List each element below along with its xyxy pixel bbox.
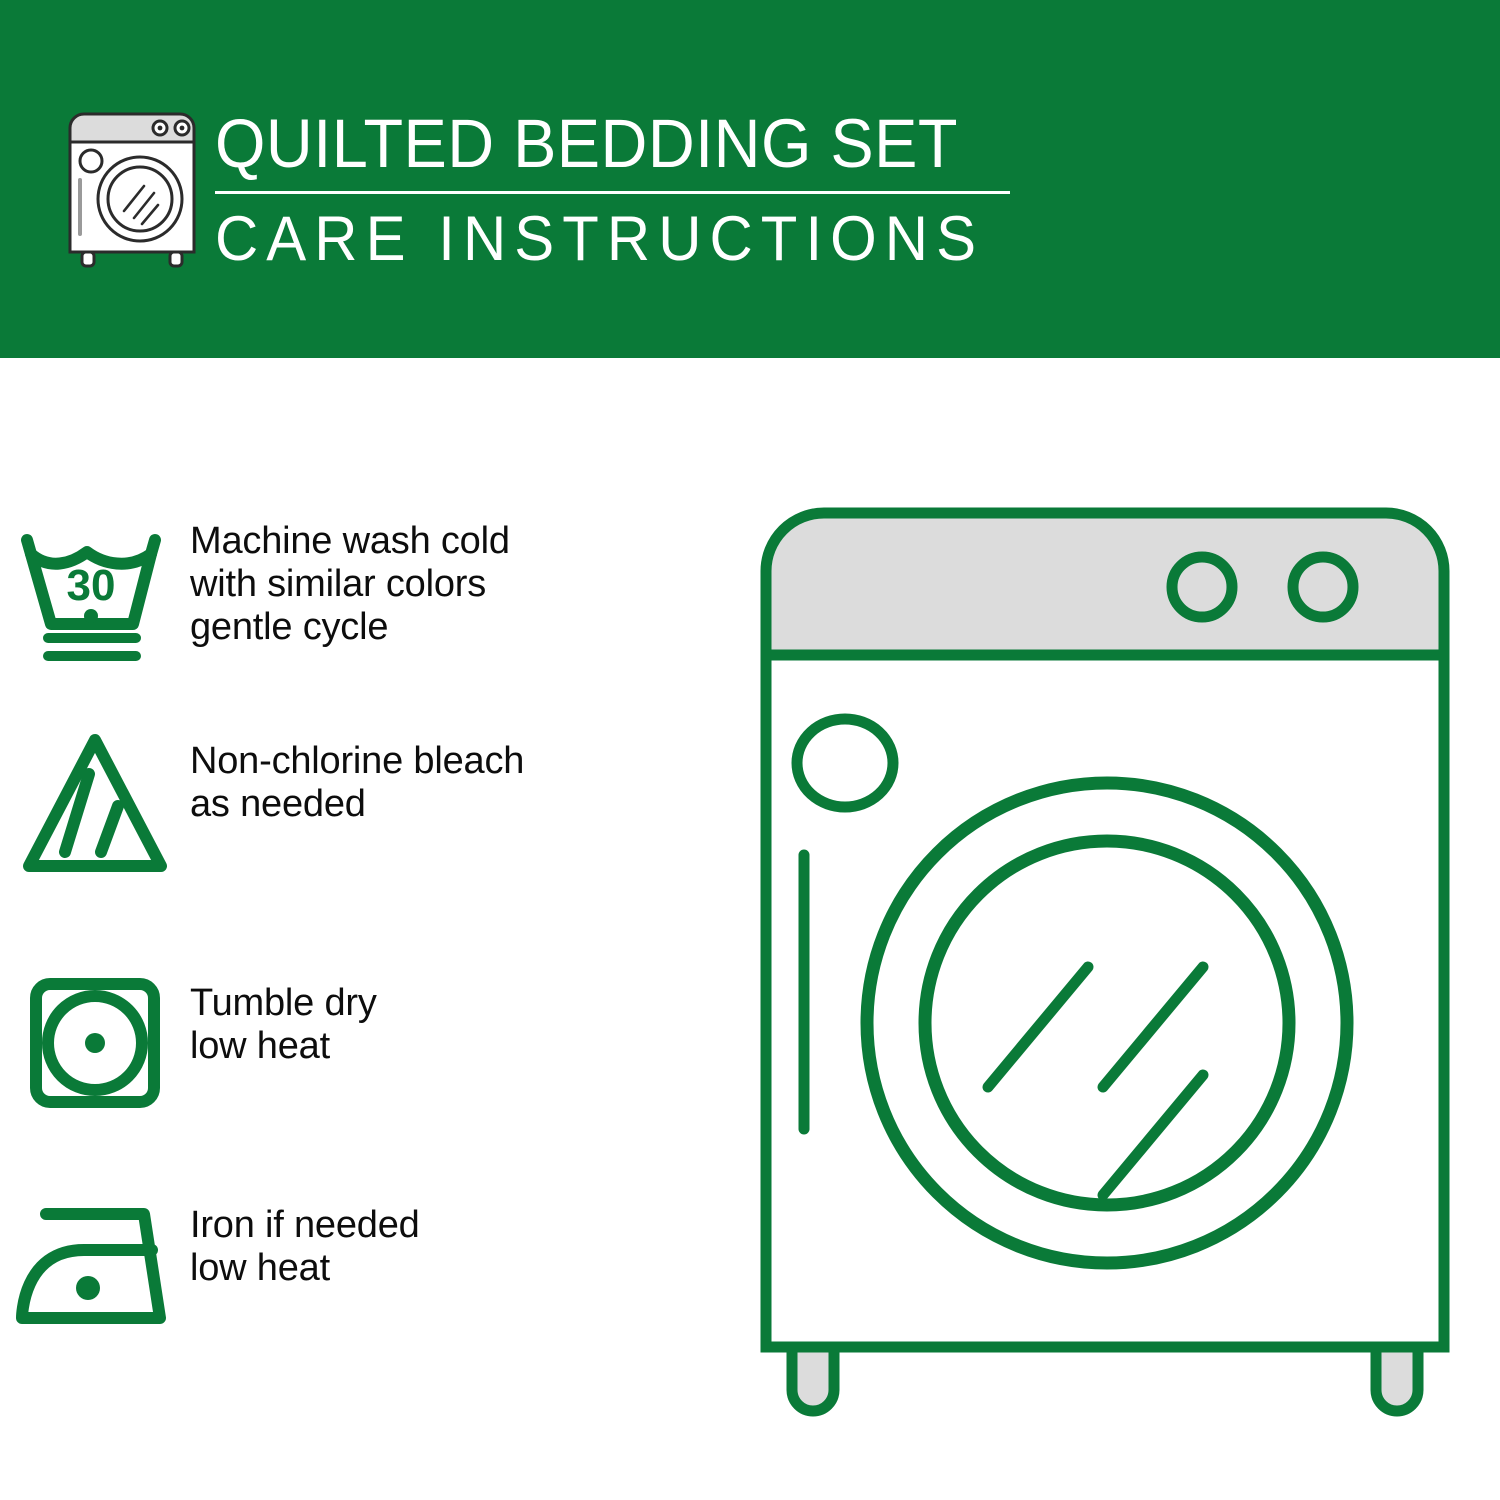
label-line: with similar colors	[190, 563, 510, 606]
header-text-block: QUILTED BEDDING SET CARE INSTRUCTIONS	[215, 104, 1015, 275]
washing-machine-icon	[62, 106, 202, 271]
washing-machine-illustration	[745, 495, 1465, 1420]
page-title: QUILTED BEDDING SET	[215, 104, 967, 184]
door-inner-ring	[925, 841, 1289, 1205]
care-instructions-page: QUILTED BEDDING SET CARE INSTRUCTIONS 30…	[0, 0, 1500, 1500]
header-divider	[215, 191, 1010, 194]
list-item-label: Machine wash cold with similar colors ge…	[190, 516, 510, 649]
knob-right	[1293, 557, 1353, 617]
detergent-dispenser	[797, 719, 893, 807]
label-line: low heat	[190, 1025, 377, 1068]
list-item: Tumble dry low heat	[0, 968, 700, 1122]
knob-left	[1172, 557, 1232, 617]
leg-left	[792, 1347, 834, 1411]
leg-right	[1376, 1347, 1418, 1411]
label-line: gentle cycle	[190, 606, 510, 649]
list-item: Non-chlorine bleach as needed	[0, 726, 700, 880]
label-line: as needed	[190, 783, 524, 826]
wash-temperature-value: 30	[67, 561, 116, 610]
list-item: 30 Machine wash cold with similar colors…	[0, 516, 700, 670]
list-item-label: Non-chlorine bleach as needed	[190, 726, 524, 826]
list-item: Iron if needed low heat	[0, 1190, 700, 1334]
header-banner: QUILTED BEDDING SET CARE INSTRUCTIONS	[0, 0, 1500, 358]
iron-low-heat-icon	[0, 1190, 190, 1334]
list-item-label: Iron if needed low heat	[190, 1190, 420, 1290]
label-line: Tumble dry	[190, 982, 377, 1025]
label-line: Iron if needed	[190, 1204, 420, 1247]
list-item-label: Tumble dry low heat	[190, 968, 377, 1068]
wash-tub-30-icon: 30	[0, 516, 190, 670]
tumble-dry-low-icon	[0, 968, 190, 1122]
label-line: Non-chlorine bleach	[190, 740, 524, 783]
label-line: low heat	[190, 1247, 420, 1290]
non-chlorine-bleach-triangle-icon	[0, 726, 190, 880]
page-subtitle: CARE INSTRUCTIONS	[215, 203, 975, 275]
care-instructions-list: 30 Machine wash cold with similar colors…	[0, 358, 720, 1500]
label-line: Machine wash cold	[190, 520, 510, 563]
